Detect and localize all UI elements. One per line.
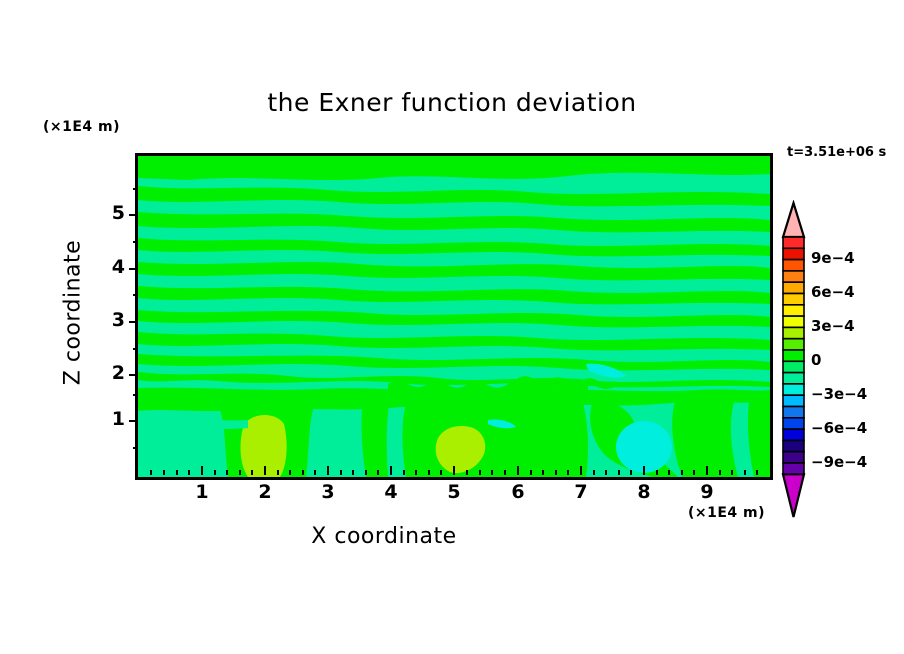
x-tick-minor — [719, 470, 721, 475]
y-tick-minor — [133, 241, 138, 243]
x-tick-minor — [618, 470, 620, 475]
x-tick-major — [706, 466, 708, 475]
x-tick-minor — [163, 470, 165, 475]
y-tick-major — [129, 214, 138, 216]
colorbar-tick-label: −9e−4 — [811, 453, 867, 471]
x-tick-minor — [176, 470, 178, 475]
figure-root: the Exner function deviation (×1E4 m) (×… — [0, 0, 904, 654]
x-tick-minor — [593, 470, 595, 475]
x-tick-label: 8 — [624, 481, 664, 503]
x-tick-major — [453, 466, 455, 475]
y-tick-major — [129, 420, 138, 422]
x-tick-minor — [756, 470, 758, 475]
x-tick-major — [327, 466, 329, 475]
x-tick-minor — [731, 470, 733, 475]
x-tick-minor — [352, 470, 354, 475]
contour-field — [138, 156, 770, 477]
x-tick-label: 3 — [308, 481, 348, 503]
y-axis-unit-label: (×1E4 m) — [43, 119, 120, 135]
y-tick-minor — [133, 394, 138, 396]
x-tick-label: 7 — [561, 481, 601, 503]
colorbar-swatches — [780, 200, 900, 520]
x-tick-minor — [415, 470, 417, 475]
x-axis-unit-label: (×1E4 m) — [688, 505, 765, 521]
y-tick-minor — [133, 348, 138, 350]
x-tick-major — [517, 466, 519, 475]
x-tick-minor — [630, 470, 632, 475]
x-tick-minor — [214, 470, 216, 475]
y-tick-label: 1 — [95, 408, 125, 430]
x-tick-minor — [567, 470, 569, 475]
x-tick-minor — [314, 470, 316, 475]
x-tick-minor — [226, 470, 228, 475]
x-tick-major — [643, 466, 645, 475]
x-tick-minor — [744, 470, 746, 475]
x-tick-minor — [466, 470, 468, 475]
x-tick-minor — [542, 470, 544, 475]
x-tick-minor — [479, 470, 481, 475]
x-tick-minor — [150, 470, 152, 475]
y-tick-minor — [133, 447, 138, 449]
colorbar-tick-label: 9e−4 — [811, 249, 855, 267]
x-tick-label: 5 — [434, 481, 474, 503]
x-tick-minor — [188, 470, 190, 475]
x-tick-minor — [693, 470, 695, 475]
x-tick-label: 2 — [245, 481, 285, 503]
colorbar-tick-label: −3e−4 — [811, 385, 867, 403]
x-tick-label: 6 — [498, 481, 538, 503]
x-tick-label: 1 — [182, 481, 222, 503]
x-tick-minor — [403, 470, 405, 475]
y-tick-label: 4 — [95, 256, 125, 278]
x-tick-minor — [428, 470, 430, 475]
time-annotation: t=3.51e+06 s — [787, 145, 886, 160]
x-tick-minor — [530, 470, 532, 475]
y-tick-major — [129, 268, 138, 270]
x-tick-minor — [491, 470, 493, 475]
x-tick-major — [390, 466, 392, 475]
x-tick-major — [264, 466, 266, 475]
x-tick-minor — [668, 470, 670, 475]
y-axis-title: Z coordinate — [61, 218, 86, 408]
x-tick-minor — [504, 470, 506, 475]
y-tick-minor — [133, 294, 138, 296]
colorbar-tick-label: 0 — [811, 351, 821, 369]
page-title: the Exner function deviation — [0, 88, 904, 117]
contour-plot-area — [135, 153, 773, 480]
y-tick-major — [129, 321, 138, 323]
y-tick-minor — [133, 188, 138, 190]
x-tick-minor — [605, 470, 607, 475]
y-tick-label: 3 — [95, 309, 125, 331]
y-tick-major — [129, 374, 138, 376]
x-tick-minor — [289, 470, 291, 475]
x-tick-minor — [277, 470, 279, 475]
x-tick-minor — [681, 470, 683, 475]
y-tick-label: 5 — [95, 202, 125, 224]
x-tick-minor — [239, 470, 241, 475]
colorbar: 9e−4 6e−4 3e−4 0 −3e−4 −6e−4 −9e−4 — [780, 200, 900, 520]
x-tick-minor — [377, 470, 379, 475]
x-tick-minor — [555, 470, 557, 475]
colorbar-tick-label: 3e−4 — [811, 317, 855, 335]
colorbar-tick-label: 6e−4 — [811, 283, 855, 301]
y-tick-label: 2 — [95, 362, 125, 384]
colorbar-tick-label: −6e−4 — [811, 419, 867, 437]
x-tick-minor — [440, 470, 442, 475]
x-tick-major — [580, 466, 582, 475]
x-tick-minor — [302, 470, 304, 475]
x-tick-minor — [251, 470, 253, 475]
x-axis-title: X coordinate — [0, 524, 768, 549]
x-tick-minor — [365, 470, 367, 475]
x-tick-label: 4 — [371, 481, 411, 503]
x-tick-minor — [340, 470, 342, 475]
x-tick-label: 9 — [687, 481, 727, 503]
x-tick-minor — [656, 470, 658, 475]
x-tick-major — [201, 466, 203, 475]
